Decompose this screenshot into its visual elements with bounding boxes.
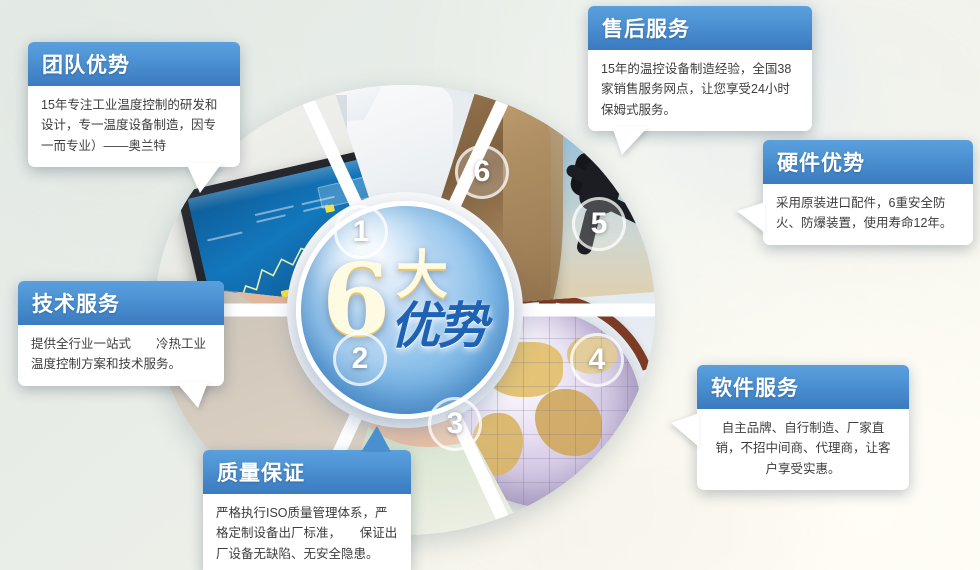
card-after-sales-pointer bbox=[612, 127, 648, 155]
card-hardware-title: 硬件优势 bbox=[763, 140, 973, 184]
card-hardware[interactable]: 硬件优势 采用原装进口配件，6重安全防火、防爆装置，使用寿命12年。 bbox=[763, 140, 973, 245]
card-after-sales[interactable]: 售后服务 15年的温控设备制造经验，全国38家销售服务网点，让您享受24小时保姆… bbox=[588, 6, 812, 131]
card-quality-title: 质量保证 bbox=[203, 450, 411, 494]
card-team-body: 15年专注工业温度控制的研发和设计，专一温度设备制造，因专一而专业）——奥兰特 bbox=[28, 86, 240, 167]
badge-3[interactable]: 3 bbox=[428, 397, 482, 451]
card-team-title: 团队优势 bbox=[28, 42, 240, 86]
card-quality-pointer bbox=[361, 426, 391, 452]
badge-2[interactable]: 2 bbox=[333, 332, 387, 386]
card-software-title: 软件服务 bbox=[697, 365, 909, 409]
badge-4[interactable]: 4 bbox=[570, 333, 624, 387]
card-hardware-pointer bbox=[737, 202, 765, 233]
badge-5[interactable]: 5 bbox=[572, 197, 626, 251]
badge-1[interactable]: 1 bbox=[334, 205, 388, 259]
infographic-stage: 6 大 优势 1 2 3 4 5 6 团队优势 15年专注工业温度控制的研发和设… bbox=[0, 0, 980, 570]
card-team-pointer bbox=[186, 163, 222, 193]
badge-6[interactable]: 6 bbox=[455, 145, 509, 199]
card-after-sales-title: 售后服务 bbox=[588, 6, 812, 50]
emblem-word: 优势 bbox=[390, 300, 486, 352]
card-quality[interactable]: 质量保证 严格执行ISO质量管理体系，严格定制设备出厂标准， 保证出厂设备无缺陷… bbox=[203, 450, 411, 570]
card-technical-pointer bbox=[176, 382, 208, 408]
card-team[interactable]: 团队优势 15年专注工业温度控制的研发和设计，专一温度设备制造，因专一而专业）—… bbox=[28, 42, 240, 167]
card-quality-body: 严格执行ISO质量管理体系，严格定制设备出厂标准， 保证出厂设备无缺陷、无安全隐… bbox=[203, 494, 411, 570]
card-software[interactable]: 软件服务 自主品牌、自行制造、厂家直销，不招中间商、代理商，让客户享受实惠。 bbox=[697, 365, 909, 490]
card-technical[interactable]: 技术服务 提供全行业一站式 冷热工业温度控制方案和技术服务。 bbox=[18, 281, 224, 386]
card-technical-body: 提供全行业一站式 冷热工业温度控制方案和技术服务。 bbox=[18, 325, 224, 386]
card-hardware-body: 采用原装进口配件，6重安全防火、防爆装置，使用寿命12年。 bbox=[763, 184, 973, 245]
card-after-sales-body: 15年的温控设备制造经验，全国38家销售服务网点，让您享受24小时保姆式服务。 bbox=[588, 50, 812, 131]
center-emblem[interactable]: 6 大 优势 bbox=[296, 201, 514, 419]
card-software-body: 自主品牌、自行制造、厂家直销，不招中间商、代理商，让客户享受实惠。 bbox=[697, 409, 909, 490]
card-software-pointer bbox=[671, 413, 699, 447]
emblem-unit: 大 bbox=[396, 250, 448, 302]
card-technical-title: 技术服务 bbox=[18, 281, 224, 325]
